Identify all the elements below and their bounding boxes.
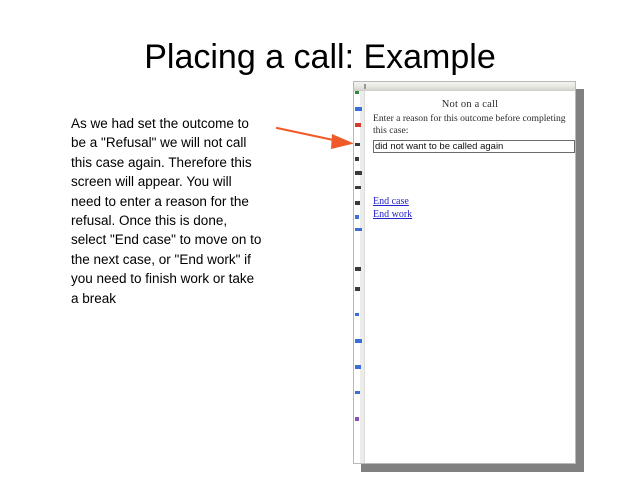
underlying-text-fragment xyxy=(355,123,361,127)
underlying-text-fragment xyxy=(355,171,362,175)
reason-input[interactable] xyxy=(373,140,575,153)
end-case-link[interactable]: End case xyxy=(373,195,409,208)
panel-toolbar-strip xyxy=(354,82,575,91)
underlying-text-fragment xyxy=(355,287,360,291)
underlying-text-fragment xyxy=(355,157,359,161)
slide-title: Placing a call: Example xyxy=(0,38,640,77)
embedded-screenshot-panel: Not on a call Enter a reason for this ou… xyxy=(353,81,576,464)
underlying-text-fragment xyxy=(355,228,362,231)
end-work-link[interactable]: End work xyxy=(373,208,412,221)
underlying-text-fragment xyxy=(355,267,361,271)
underlying-text-fragment xyxy=(355,391,360,394)
underlying-text-fragment xyxy=(355,143,360,146)
underlying-text-fragment xyxy=(355,201,360,205)
panel-instruction-text: Enter a reason for this outcome before c… xyxy=(373,113,567,137)
underlying-text-fragment xyxy=(355,417,359,421)
underlying-text-fragment xyxy=(355,186,361,189)
underlying-window-strip xyxy=(354,91,365,463)
underlying-text-fragment xyxy=(355,107,362,111)
panel-heading: Not on a call xyxy=(373,99,567,110)
underlying-text-fragment xyxy=(355,215,359,219)
underlying-text-fragment xyxy=(355,339,362,343)
panel-content-area: Not on a call Enter a reason for this ou… xyxy=(365,91,575,463)
underlying-text-fragment xyxy=(355,313,359,316)
underlying-scrollbar[interactable] xyxy=(360,91,364,463)
underlying-text-fragment xyxy=(355,91,359,94)
toolbar-grip-icon xyxy=(364,84,366,89)
slide-body-text: As we had set the outcome to be a "Refus… xyxy=(71,114,263,308)
underlying-text-fragment xyxy=(355,365,361,369)
panel-action-links: End case End work xyxy=(373,195,567,221)
pointer-arrow-icon xyxy=(270,116,360,154)
slide-canvas: Placing a call: Example As we had set th… xyxy=(0,0,640,480)
